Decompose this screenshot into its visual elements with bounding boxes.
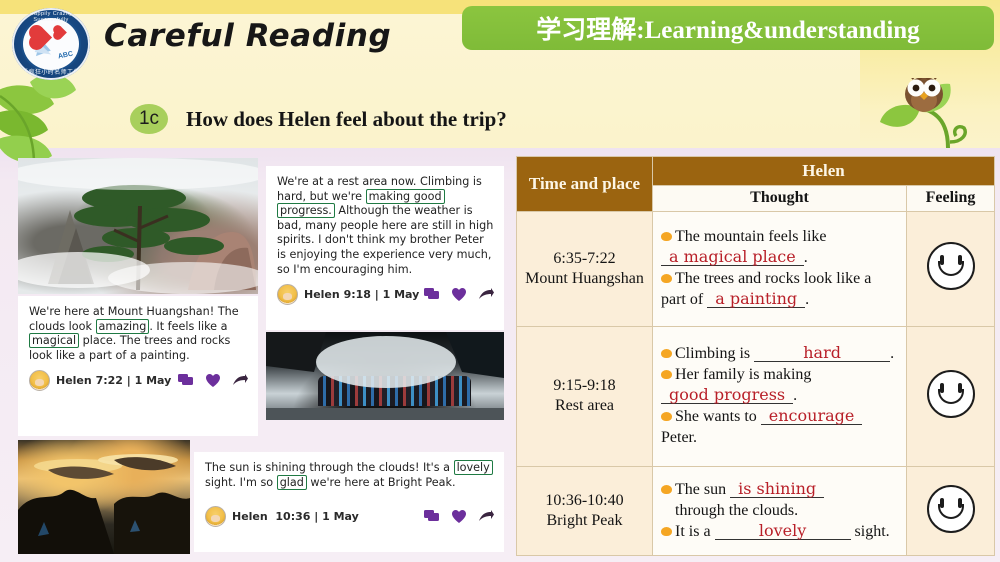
- post-author: Helen 9:18 | 1 May: [304, 288, 419, 301]
- post-line-4: like a: [198, 320, 228, 333]
- heart-icon: [206, 374, 220, 387]
- helen-summary-table: Time and place Helen Thought Feeling 6:3…: [516, 156, 995, 556]
- answer-blank[interactable]: a magical place: [661, 248, 804, 266]
- bullet-post: .: [804, 249, 808, 266]
- bullet-text: Her family is making: [675, 366, 811, 383]
- avatar: [29, 370, 50, 391]
- row-place: Mount Huangshan: [525, 270, 644, 287]
- photo-crowd-rest-area: [266, 332, 504, 420]
- answer-blank[interactable]: lovely: [715, 522, 851, 540]
- school-logo: Happily Crazily Successfully ABC 快乐疯狂小时名…: [12, 8, 90, 80]
- post-bright-peak: The sun is shining through the clouds! I…: [194, 452, 504, 552]
- bullet-post: .: [793, 387, 797, 404]
- bullet-icon: [661, 370, 672, 379]
- post-timestamp: 7:22 | 1 May: [96, 374, 172, 387]
- col-header-thought: Thought: [653, 185, 907, 211]
- cell-thought: The mountain feels like a magical place.…: [653, 211, 907, 326]
- post-action-icons: [424, 510, 494, 523]
- activity-badge-1c: 1c: [130, 104, 168, 134]
- question-row: 1c How does Helen feel about the trip?: [130, 104, 507, 134]
- col-header-time-place: Time and place: [517, 157, 653, 212]
- post-rest-area: We're at a rest area now. Climbing is ha…: [266, 166, 504, 330]
- bullet-post: .: [805, 291, 809, 308]
- bullet-post: Peter.: [661, 429, 697, 446]
- comment-icon: [424, 288, 439, 301]
- post-line-3: . It feels: [149, 320, 194, 333]
- comment-icon: [178, 374, 193, 387]
- highlight-glad: glad: [277, 475, 307, 490]
- post-mount-huangshan: We're here at Mount Huangshan! The cloud…: [18, 296, 258, 436]
- row-place: Bright Peak: [547, 512, 623, 529]
- bullet-post: .: [890, 345, 894, 362]
- post-text: We're here at Mount Huangshan! The cloud…: [29, 305, 248, 363]
- answer-blank[interactable]: encourage: [761, 407, 863, 425]
- cell-thought: The sun is shining through the clouds. I…: [653, 467, 907, 556]
- banner-label: 学习理解:Learning&understanding: [536, 10, 919, 46]
- post-text: We're at a rest area now. Climbing is ha…: [277, 175, 494, 277]
- cell-feeling: [907, 211, 995, 326]
- bullet-text: Climbing is: [675, 345, 750, 362]
- logo-arc-bottom-text: 快乐疯狂小时名师工作室: [12, 67, 90, 76]
- post-meta: Helen 7:22 | 1 May: [29, 370, 248, 391]
- post-timestamp: 10:36 | 1 May: [275, 510, 358, 523]
- bullet-text: The mountain feels like: [675, 228, 827, 245]
- answer-blank[interactable]: good progress: [661, 386, 793, 404]
- bullet-text: The sun: [675, 481, 726, 498]
- owl-vine-decoration: [862, 78, 982, 150]
- share-icon: [479, 510, 494, 523]
- share-icon: [233, 374, 248, 387]
- highlight-lovely: lovely: [454, 460, 493, 475]
- bullet-icon: [661, 485, 672, 494]
- cell-time-place: 10:36-10:40 Bright Peak: [517, 467, 653, 556]
- post-timestamp: 9:18 | 1 May: [344, 288, 420, 301]
- cell-feeling: [907, 326, 995, 467]
- cell-time-place: 6:35-7:22 Mount Huangshan: [517, 211, 653, 326]
- highlight-progress: progress.: [277, 203, 335, 218]
- table-row: 6:35-7:22 Mount Huangshan The mountain f…: [517, 211, 995, 326]
- post-author: Helen 7:22 | 1 May: [56, 374, 171, 387]
- row-time: 9:15-9:18: [553, 377, 615, 394]
- bullet-post: through the clouds.: [675, 502, 798, 519]
- post-action-icons: [424, 288, 494, 301]
- bullet-icon: [661, 274, 672, 283]
- row-place: Rest area: [555, 397, 614, 414]
- smiley-face-icon: [927, 485, 975, 533]
- col-header-feeling: Feeling: [907, 185, 995, 211]
- answer-blank[interactable]: a painting: [707, 290, 805, 308]
- post-text: The sun is shining through the clouds! I…: [205, 461, 494, 490]
- row-time: 10:36-10:40: [545, 492, 623, 509]
- post-line-0: We're here at Mount Huangshan!: [29, 305, 214, 318]
- cell-thought: Climbing is hard. Her family is making g…: [653, 326, 907, 467]
- logo-arc-top-text: Happily Crazily Successfully: [12, 11, 90, 23]
- table-row: 9:15-9:18 Rest area Climbing is hard. He…: [517, 326, 995, 467]
- post-author-name: Helen: [304, 288, 340, 301]
- heart-icon: [452, 510, 466, 523]
- highlight-making-good: making good: [366, 189, 445, 204]
- highlight-amazing: amazing: [96, 319, 150, 334]
- avatar: [277, 284, 298, 305]
- slide-root: Happily Crazily Successfully ABC 快乐疯狂小时名…: [0, 0, 1000, 562]
- post-author-name: Helen: [232, 510, 268, 523]
- smiley-face-icon: [927, 242, 975, 290]
- table-row: 10:36-10:40 Bright Peak The sun is shini…: [517, 467, 995, 556]
- cell-time-place: 9:15-9:18 Rest area: [517, 326, 653, 467]
- avatar: [205, 506, 226, 527]
- photo-sunrise-sea-of-clouds: [18, 440, 190, 554]
- col-header-helen: Helen: [653, 157, 995, 186]
- bullet-icon: [661, 412, 672, 421]
- post-author: Helen 10:36 | 1 May: [232, 510, 359, 523]
- cell-feeling: [907, 467, 995, 556]
- bullet-icon: [661, 232, 672, 241]
- post-line-6: place. The trees and: [79, 334, 197, 347]
- learning-objective-banner: 学习理解:Learning&understanding: [462, 6, 994, 50]
- table-header-row-1: Time and place Helen: [517, 157, 995, 186]
- bullet-icon: [661, 527, 672, 536]
- question-text: How does Helen feel about the trip?: [186, 107, 507, 132]
- bullet-post: sight.: [855, 523, 890, 540]
- heart-icon: [452, 288, 466, 301]
- screenshot-collage-panel: We're here at Mount Huangshan! The cloud…: [8, 156, 508, 554]
- post-action-icons: [178, 374, 248, 387]
- share-icon: [479, 288, 494, 301]
- post-meta: Helen 10:36 | 1 May: [205, 506, 494, 527]
- post-author-name: Helen: [56, 374, 92, 387]
- highlight-magical: magical: [29, 333, 79, 348]
- smiley-face-icon: [927, 370, 975, 418]
- photo-huangshan-pine: [18, 158, 258, 294]
- bullet-text: She wants to: [675, 408, 757, 425]
- bullet-icon: [661, 349, 672, 358]
- page-title: Careful Reading: [104, 18, 391, 54]
- answer-blank[interactable]: hard: [754, 344, 890, 362]
- answer-blank[interactable]: is shining: [730, 480, 824, 498]
- comment-icon: [424, 510, 439, 523]
- post-meta: Helen 9:18 | 1 May: [277, 284, 494, 305]
- row-time: 6:35-7:22: [553, 250, 615, 267]
- bullet-text: It is a: [675, 523, 711, 540]
